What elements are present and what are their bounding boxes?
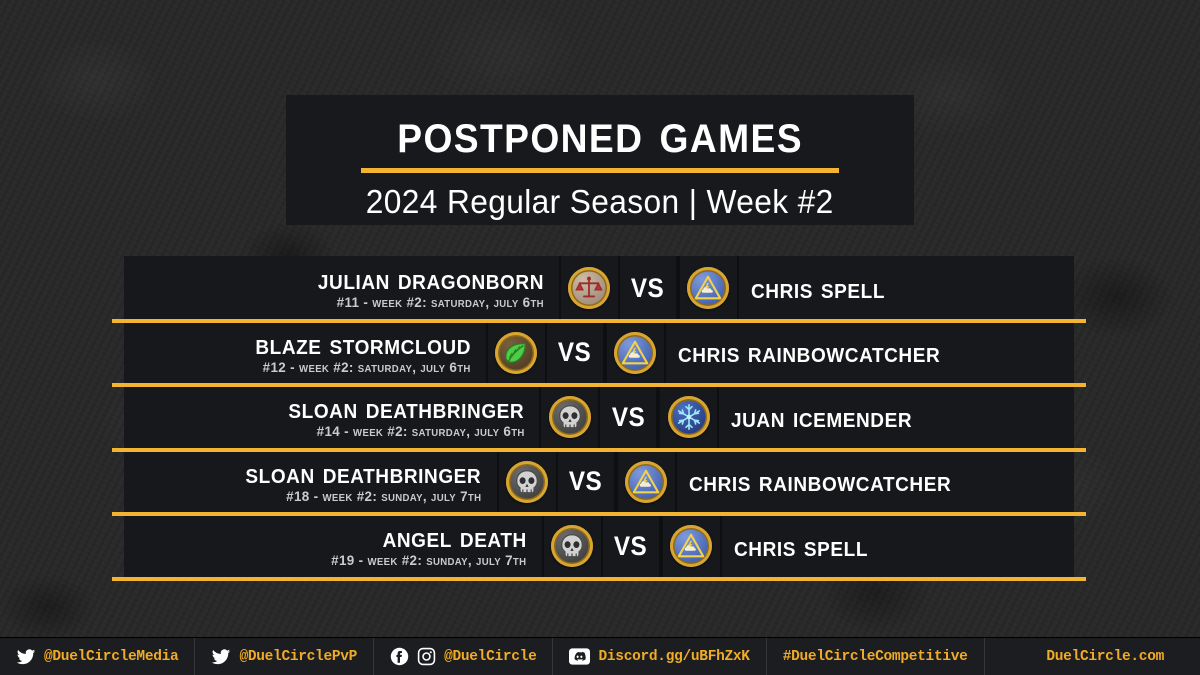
footer-item[interactable]: @DuelCircle	[374, 638, 553, 675]
right-player-name: Chris Rainbowcatcher	[689, 467, 951, 496]
right-school-cell	[616, 450, 677, 515]
left-school-cell	[486, 321, 547, 386]
left-player-name: Angel Death	[382, 523, 526, 552]
footer-item[interactable]: #DuelCircleCompetitive	[767, 638, 985, 675]
versus-label: VS	[569, 466, 602, 497]
right-player-name: Chris Rainbowcatcher	[678, 338, 940, 367]
facebook-icon	[390, 647, 409, 666]
versus-cell: VS	[558, 450, 616, 515]
footer-label: #DuelCircleCompetitive	[783, 649, 968, 665]
footer-item[interactable]: @DuelCirclePvP	[195, 638, 374, 675]
instagram-icon	[417, 647, 436, 666]
right-player-cell: Chris Spell	[739, 256, 1074, 321]
footer-label: Discord.gg/uBFhZxK	[598, 649, 749, 665]
versus-label: VS	[612, 402, 645, 433]
storm-school-icon	[625, 461, 667, 503]
right-player-name: Juan Icemender	[731, 403, 912, 432]
death-school-icon	[549, 396, 591, 438]
ice-school-icon	[668, 396, 710, 438]
right-player-name: Chris Spell	[751, 274, 885, 303]
left-player-cell: Sloan Deathbringer#18 - Week #2: Sunday,…	[124, 450, 497, 515]
title-underline	[361, 168, 839, 173]
match-row[interactable]: Sloan Deathbringer#14 - Week #2: Saturda…	[124, 385, 1074, 450]
right-school-cell	[605, 321, 666, 386]
left-school-cell	[539, 385, 600, 450]
versus-label: VS	[631, 273, 664, 304]
left-player-name: Sloan Deathbringer	[288, 394, 524, 423]
footer-label: @DuelCirclePvP	[239, 649, 357, 665]
row-divider	[112, 512, 1086, 516]
leaf-school-icon	[495, 332, 537, 374]
left-player-name: Sloan Deathbringer	[246, 459, 482, 488]
row-divider	[112, 577, 1086, 581]
versus-cell: VS	[620, 256, 678, 321]
footer-item[interactable]: @DuelCircleMedia	[0, 638, 195, 675]
row-divider	[112, 319, 1086, 323]
left-player-name: Blaze Stormcloud	[255, 330, 471, 359]
row-divider	[112, 383, 1086, 387]
footer-label: @DuelCircle	[444, 649, 536, 665]
twitter-icon	[16, 647, 36, 667]
right-player-cell: Chris Rainbowcatcher	[666, 321, 1074, 386]
left-player-cell: Sloan Deathbringer#14 - Week #2: Saturda…	[124, 385, 539, 450]
balance-school-icon	[568, 267, 610, 309]
versus-label: VS	[558, 337, 591, 368]
match-meta: #12 - Week #2: Saturday, July 6th	[263, 359, 471, 376]
page-title: Postponed Games	[397, 102, 803, 164]
title-block: Postponed Games 2024 Regular Season | We…	[286, 95, 914, 225]
versus-cell: VS	[547, 321, 605, 386]
footer-item[interactable]: DuelCircle.com	[1030, 638, 1200, 675]
death-school-icon	[506, 461, 548, 503]
match-meta: #18 - Week #2: Sunday, July 7th	[286, 488, 481, 505]
match-meta: #11 - Week #2: Saturday, July 6th	[337, 294, 544, 311]
right-player-cell: Juan Icemender	[719, 385, 1074, 450]
footer-bar: @DuelCircleMedia@DuelCirclePvP@DuelCircl…	[0, 637, 1200, 675]
match-meta: #14 - Week #2: Saturday, July 6th	[316, 423, 524, 440]
left-player-cell: Angel Death#19 - Week #2: Sunday, July 7…	[124, 514, 542, 579]
left-player-cell: Julian Dragonborn#11 - Week #2: Saturday…	[124, 256, 559, 321]
left-school-cell	[542, 514, 603, 579]
left-player-name: Julian Dragonborn	[318, 265, 544, 294]
page-subtitle: 2024 Regular Season | Week #2	[366, 184, 834, 220]
right-school-cell	[661, 514, 722, 579]
storm-school-icon	[614, 332, 656, 374]
right-player-cell: Chris Spell	[722, 514, 1074, 579]
death-school-icon	[551, 525, 593, 567]
right-school-cell	[678, 256, 739, 321]
match-row[interactable]: Sloan Deathbringer#18 - Week #2: Sunday,…	[124, 450, 1074, 515]
versus-cell: VS	[600, 385, 658, 450]
versus-cell: VS	[603, 514, 661, 579]
row-divider	[112, 448, 1086, 452]
left-school-cell	[497, 450, 558, 515]
storm-school-icon	[670, 525, 712, 567]
match-list: Julian Dragonborn#11 - Week #2: Saturday…	[124, 256, 1074, 579]
right-player-name: Chris Spell	[734, 532, 868, 561]
right-school-cell	[658, 385, 719, 450]
footer-label: DuelCircle.com	[1046, 649, 1164, 665]
versus-label: VS	[614, 531, 647, 562]
right-player-cell: Chris Rainbowcatcher	[677, 450, 1074, 515]
left-player-cell: Blaze Stormcloud#12 - Week #2: Saturday,…	[124, 321, 486, 386]
match-meta: #19 - Week #2: Sunday, July 7th	[331, 552, 526, 569]
storm-school-icon	[687, 267, 729, 309]
footer-label: @DuelCircleMedia	[44, 649, 178, 665]
match-row[interactable]: Angel Death#19 - Week #2: Sunday, July 7…	[124, 514, 1074, 579]
left-school-cell	[559, 256, 620, 321]
match-row[interactable]: Julian Dragonborn#11 - Week #2: Saturday…	[124, 256, 1074, 321]
twitter-icon	[211, 647, 231, 667]
discord-icon	[569, 648, 590, 665]
footer-item[interactable]: Discord.gg/uBFhZxK	[553, 638, 766, 675]
match-row[interactable]: Blaze Stormcloud#12 - Week #2: Saturday,…	[124, 321, 1074, 386]
